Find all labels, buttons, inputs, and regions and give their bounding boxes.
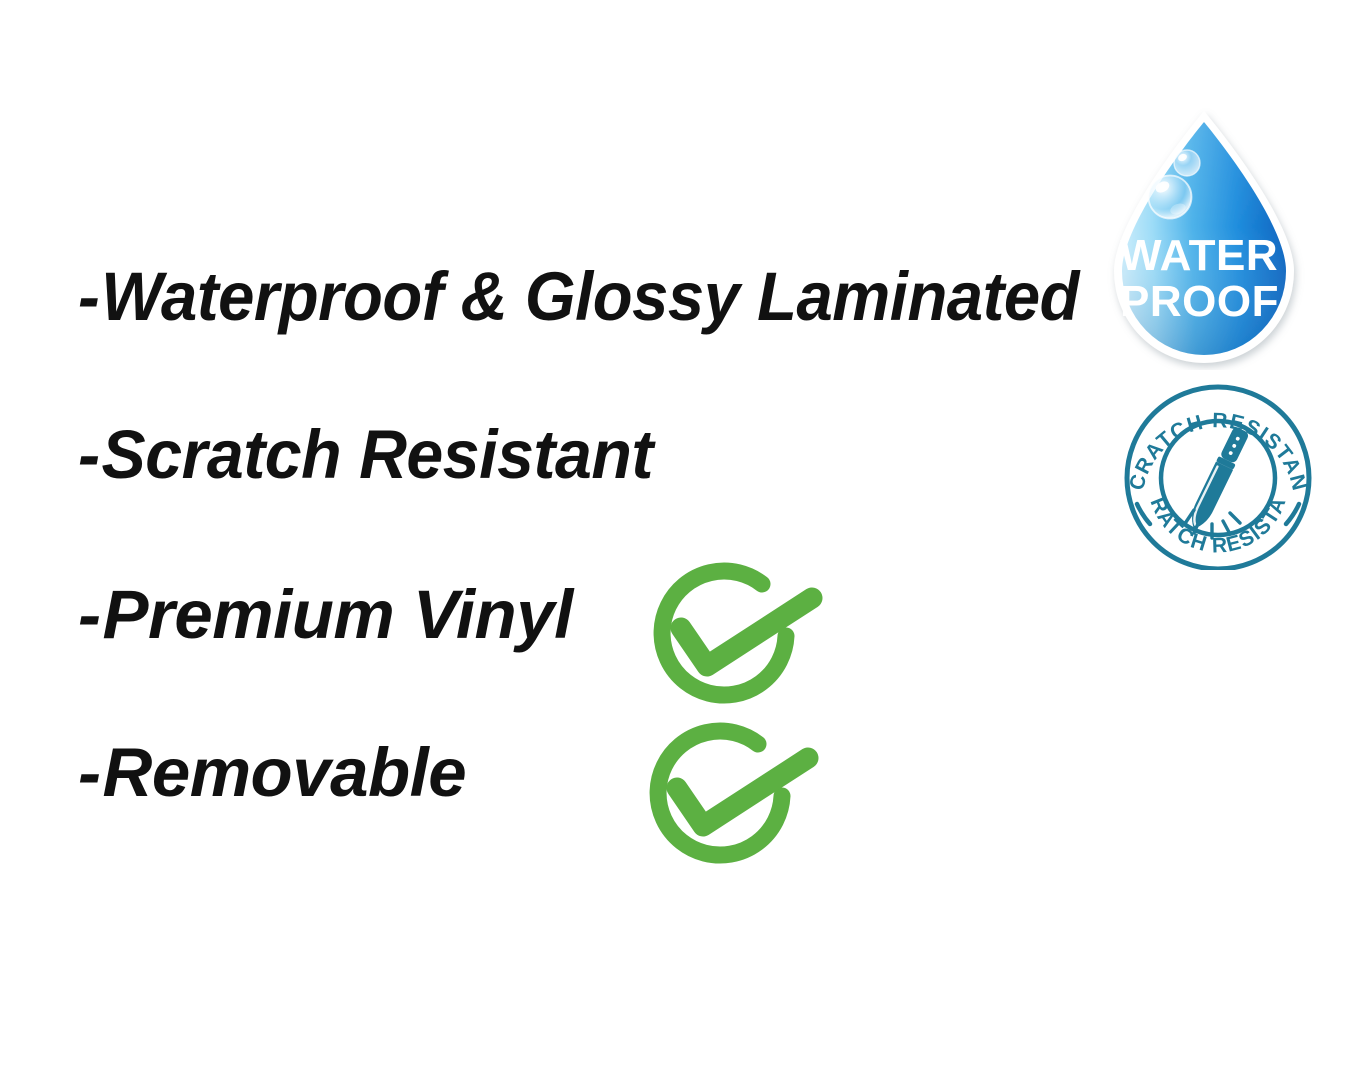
- feature-item-waterproof: -Waterproof & Glossy Laminated: [78, 262, 1079, 331]
- feature-list-graphic: -Waterproof & Glossy Laminated -Scratch …: [0, 0, 1359, 1080]
- waterproof-badge: WATER PROOF: [1098, 105, 1310, 370]
- feature-item-premium-vinyl: -Premium Vinyl: [78, 580, 573, 649]
- check-circle-premium-vinyl: [634, 558, 832, 713]
- feature-bullet-dash: -: [78, 262, 99, 331]
- feature-bullet-dash: -: [78, 738, 100, 807]
- bubble-small-icon: [1174, 150, 1200, 176]
- feature-label-scratch-resistant: Scratch Resistant: [102, 416, 653, 493]
- check-circle-icon: [658, 731, 808, 855]
- check-circle-icon: [662, 571, 812, 695]
- feature-item-scratch-resistant: -Scratch Resistant: [78, 420, 653, 489]
- bubble-large-icon: [1149, 176, 1192, 219]
- scratch-resistant-badge: SCRATCH RESISTANT SCRATCH RESISTANT: [1120, 382, 1316, 570]
- feature-label-premium-vinyl: Premium Vinyl: [102, 576, 572, 653]
- waterproof-line1: WATER: [1120, 231, 1278, 280]
- check-circle-removable: [630, 718, 828, 873]
- feature-item-removable: -Removable: [78, 738, 466, 807]
- feature-label-waterproof: Waterproof & Glossy Laminated: [101, 258, 1079, 335]
- knife-icon: [1185, 426, 1250, 533]
- waterproof-line2: PROOF: [1120, 277, 1279, 326]
- feature-label-removable: Removable: [102, 734, 466, 811]
- feature-bullet-dash: -: [78, 580, 100, 649]
- feature-bullet-dash: -: [78, 420, 100, 489]
